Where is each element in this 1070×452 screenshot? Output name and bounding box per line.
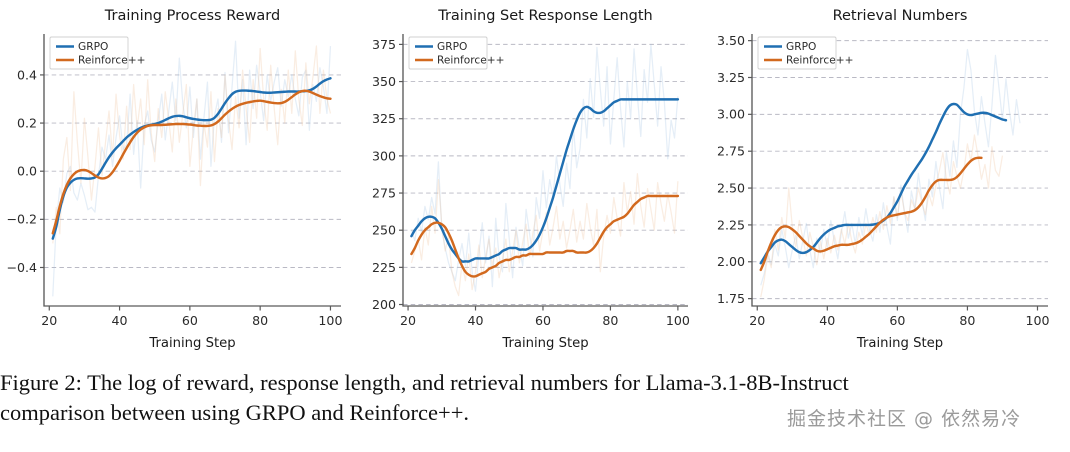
y-tick-label: 250 — [372, 223, 396, 238]
figure-panels: Training Process Reward−0.4−0.20.00.20.4… — [0, 0, 1070, 360]
x-axis-label: Training Step — [856, 336, 943, 351]
chart-svg: Training Set Response Length200225250275… — [355, 0, 700, 360]
legend-label-grpo: GRPO — [78, 41, 108, 53]
x-tick-label: 20 — [749, 313, 765, 328]
y-tick-label: 375 — [372, 37, 396, 52]
chart-panel-training-process-reward: Training Process Reward−0.4−0.20.00.20.4… — [0, 0, 355, 360]
x-tick-label: 60 — [182, 313, 198, 328]
chart-svg: Retrieval Numbers1.752.002.252.502.753.0… — [700, 0, 1070, 360]
y-tick-label: 2.75 — [717, 144, 745, 159]
y-tick-label: 200 — [372, 297, 396, 312]
y-tick-label: 0.4 — [17, 67, 37, 82]
x-tick-label: 60 — [889, 313, 905, 328]
x-tick-label: 80 — [252, 313, 268, 328]
y-tick-label: 3.50 — [717, 33, 745, 48]
series-raw-grpo — [761, 49, 1020, 285]
x-tick-label: 20 — [41, 313, 57, 328]
y-tick-label: 350 — [372, 74, 396, 89]
chart-title: Retrieval Numbers — [833, 8, 968, 24]
legend-label-reinforcepp: Reinforce++ — [437, 55, 505, 67]
y-tick-label: 225 — [372, 260, 396, 275]
axis-spines — [752, 34, 1048, 306]
legend-label-reinforcepp: Reinforce++ — [78, 55, 146, 67]
x-tick-label: 40 — [112, 313, 128, 328]
y-tick-label: 2.25 — [717, 217, 745, 232]
series-smooth-grpo — [53, 78, 331, 238]
chart-title: Training Set Response Length — [437, 8, 653, 24]
x-tick-label: 20 — [400, 313, 416, 328]
chart-title: Training Process Reward — [104, 8, 280, 24]
series-smooth-grpo — [761, 104, 1006, 263]
y-tick-label: −0.2 — [6, 212, 37, 227]
chart-panel-training-set-response-length: Training Set Response Length200225250275… — [355, 0, 700, 360]
legend-label-grpo: GRPO — [786, 41, 816, 53]
x-tick-label: 40 — [467, 313, 483, 328]
y-tick-label: 1.75 — [717, 291, 745, 306]
x-axis-label: Training Step — [501, 336, 588, 351]
y-tick-label: 0.0 — [17, 164, 37, 179]
series-smooth-reinforcepp — [761, 158, 982, 270]
y-tick-label: 300 — [372, 148, 396, 163]
y-tick-label: 275 — [372, 185, 396, 200]
chart-panel-retrieval-numbers: Retrieval Numbers1.752.002.252.502.753.0… — [700, 0, 1070, 360]
y-tick-label: −0.4 — [6, 260, 37, 275]
x-tick-label: 40 — [819, 313, 835, 328]
legend-label-reinforcepp: Reinforce++ — [786, 55, 854, 67]
x-tick-label: 80 — [602, 313, 618, 328]
y-tick-label: 3.25 — [717, 70, 745, 85]
legend-label-grpo: GRPO — [437, 41, 467, 53]
watermark-text: 掘金技术社区 @ 依然易冷 — [787, 404, 1021, 431]
y-tick-label: 3.00 — [717, 107, 745, 122]
chart-svg: Training Process Reward−0.4−0.20.00.20.4… — [0, 0, 355, 360]
y-tick-label: 2.50 — [717, 180, 745, 195]
x-axis-label: Training Step — [148, 336, 235, 351]
caption-line-1: Figure 2: The log of reward, response le… — [0, 368, 1070, 398]
x-tick-label: 80 — [959, 313, 975, 328]
x-tick-label: 100 — [1025, 313, 1049, 328]
y-tick-label: 2.00 — [717, 254, 745, 269]
x-tick-label: 100 — [318, 313, 342, 328]
y-tick-label: 0.2 — [17, 115, 37, 130]
x-tick-label: 100 — [666, 313, 690, 328]
x-tick-label: 60 — [535, 313, 551, 328]
y-tick-label: 325 — [372, 111, 396, 126]
series-raw-reinforcepp — [53, 46, 331, 243]
